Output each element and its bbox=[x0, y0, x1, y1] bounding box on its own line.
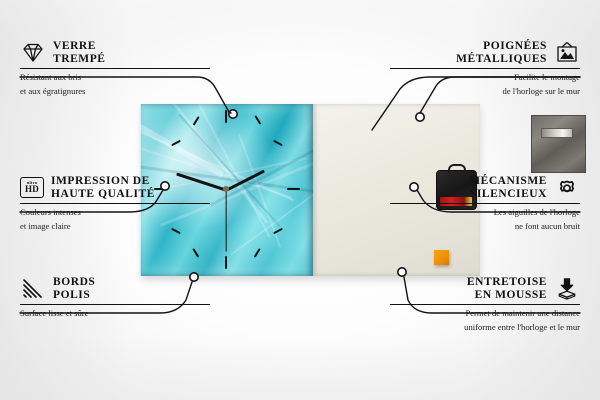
feature-entretoise-en-mousse[interactable]: ENTRETOISE EN MOUSSE Permet de maintenir… bbox=[390, 276, 580, 332]
feature-title-line2: SILENCIEUX bbox=[469, 188, 547, 201]
feature-mecanisme-silencieux[interactable]: MÉCANISME SILENCIEUX Les aiguilles de l'… bbox=[390, 175, 580, 231]
gear-icon bbox=[554, 176, 580, 200]
ultra-hd-icon-main: HD bbox=[25, 185, 39, 194]
feature-desc-line1: Facilite le montage bbox=[390, 72, 580, 82]
feature-desc-line2: ne font aucun bruit bbox=[390, 221, 580, 231]
feature-header: ultra HD IMPRESSION DE HAUTE QUALITÉ bbox=[20, 175, 210, 200]
feature-bords-polis[interactable]: BORDS POLIS Surface lisse et sûre bbox=[20, 276, 210, 319]
feature-desc-line1: Surface lisse et sûre bbox=[20, 308, 210, 318]
feature-title-line1: POIGNÉES bbox=[456, 40, 547, 53]
diamond-icon bbox=[20, 41, 46, 65]
feature-verre-trempe[interactable]: VERRE TREMPÉ Résistant aux bris et aux é… bbox=[20, 40, 210, 96]
framed-picture-hanging-icon bbox=[554, 41, 580, 65]
feature-header: VERRE TREMPÉ bbox=[20, 40, 210, 65]
feature-desc-line2: et aux égratignures bbox=[20, 86, 210, 96]
second-hand bbox=[225, 190, 226, 252]
feature-rule bbox=[390, 304, 580, 305]
feature-desc-line1: Résistant aux bris bbox=[20, 72, 210, 82]
feature-desc-line1: Les aiguilles de l'horloge bbox=[390, 207, 580, 217]
feature-header: BORDS POLIS bbox=[20, 276, 210, 301]
feature-desc-line2: de l'horloge sur le mur bbox=[390, 86, 580, 96]
feature-header: POIGNÉES MÉTALLIQUES bbox=[390, 40, 580, 65]
feature-title-line1: IMPRESSION DE bbox=[51, 175, 155, 188]
feature-rule bbox=[20, 304, 210, 305]
feature-title-line2: EN MOUSSE bbox=[467, 289, 547, 302]
feature-rule bbox=[20, 203, 210, 204]
feature-title-line1: BORDS bbox=[53, 276, 95, 289]
feature-title-line2: TREMPÉ bbox=[53, 53, 106, 66]
feature-title-line1: MÉCANISME bbox=[469, 175, 547, 188]
feature-title-line2: HAUTE QUALITÉ bbox=[51, 188, 155, 201]
feature-title-line2: MÉTALLIQUES bbox=[456, 53, 547, 66]
foam-spacer-pad bbox=[434, 250, 449, 265]
ultra-hd-icon: ultra HD bbox=[20, 177, 44, 198]
feature-desc-line2: et image claire bbox=[20, 221, 210, 231]
polished-edge-icon bbox=[20, 277, 46, 301]
hour-hand bbox=[225, 170, 265, 193]
feature-desc-line1: Couleurs intenses bbox=[20, 207, 210, 217]
mechanism-hook bbox=[448, 164, 466, 173]
feature-rule bbox=[390, 68, 580, 69]
hand-pivot bbox=[223, 186, 229, 192]
feature-desc-line1: Permet de maintenir une distance bbox=[390, 308, 580, 318]
feature-rule bbox=[20, 68, 210, 69]
feature-desc-line2: uniforme entre l'horloge et le mur bbox=[390, 322, 580, 332]
feature-title-line1: VERRE bbox=[53, 40, 106, 53]
infographic-canvas: VERRE TREMPÉ Résistant aux bris et aux é… bbox=[0, 0, 600, 400]
feature-impression-haute-qualite[interactable]: ultra HD IMPRESSION DE HAUTE QUALITÉ Cou… bbox=[20, 175, 210, 231]
metal-hanging-bracket bbox=[531, 115, 586, 173]
feature-poignees-metalliques[interactable]: POIGNÉES MÉTALLIQUES Facilite le montage… bbox=[390, 40, 580, 96]
foam-spacer-arrow-icon bbox=[554, 277, 580, 301]
feature-header: ENTRETOISE EN MOUSSE bbox=[390, 276, 580, 301]
feature-header: MÉCANISME SILENCIEUX bbox=[390, 175, 580, 200]
feature-title-line2: POLIS bbox=[53, 289, 95, 302]
feature-rule bbox=[390, 203, 580, 204]
feature-title-line1: ENTRETOISE bbox=[467, 276, 547, 289]
